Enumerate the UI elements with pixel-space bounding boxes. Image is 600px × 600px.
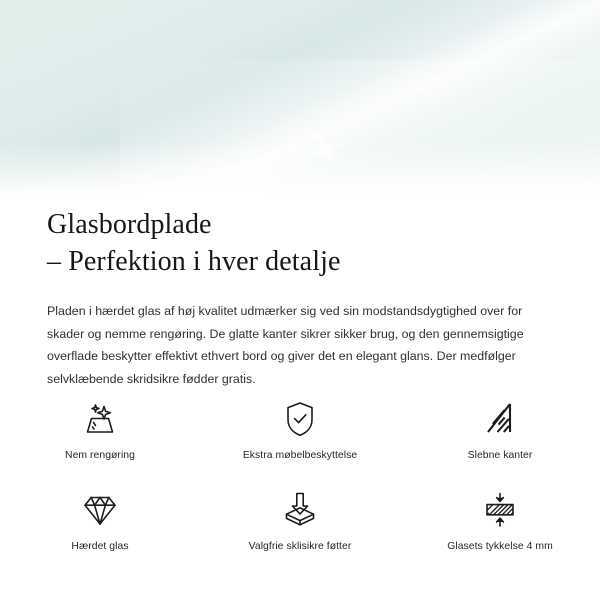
feature-label: Nem rengøring — [65, 449, 135, 462]
feature-item-glass-thickness: Glasets tykkelse 4 mm — [400, 489, 600, 553]
feature-grid: Nem rengøring Ekstra møbelbeskyttelse — [0, 398, 600, 553]
headline-line-2: – Perfektion i hver detalje — [47, 243, 553, 280]
shield-check-icon — [277, 398, 323, 440]
feature-label: Slebne kanter — [468, 449, 533, 462]
press-down-pad-icon — [277, 489, 323, 531]
feature-item-anti-slip-feet: Valgfrie sklisikre føtter — [200, 489, 400, 553]
product-detail-page: Glasbordplade – Perfektion i hver detalj… — [0, 0, 600, 600]
page-title: Glasbordplade – Perfektion i hver detalj… — [47, 206, 553, 280]
feature-item-easy-cleaning: Nem rengøring — [0, 398, 200, 462]
feature-label: Hærdet glas — [71, 540, 128, 553]
headline-line-1: Glasbordplade — [47, 209, 212, 240]
hero-image — [0, 0, 600, 200]
text-content: Glasbordplade – Perfektion i hver detalj… — [47, 206, 553, 390]
diagonal-hatch-icon — [477, 398, 523, 440]
glass-edge-highlight — [0, 0, 600, 200]
thickness-arrows-icon — [477, 489, 523, 531]
description-paragraph: Pladen i hærdet glas af høj kvalitet udm… — [47, 300, 547, 390]
feature-label: Glasets tykkelse 4 mm — [447, 540, 553, 553]
feature-label: Ekstra møbelbeskyttelse — [243, 449, 357, 462]
feature-label: Valgfrie sklisikre føtter — [249, 540, 352, 553]
diamond-icon — [77, 489, 123, 531]
feature-item-tempered-glass: Hærdet glas — [0, 489, 200, 553]
feature-item-polished-edges: Slebne kanter — [400, 398, 600, 462]
feature-item-furniture-protection: Ekstra møbelbeskyttelse — [200, 398, 400, 462]
sparkling-surface-icon — [77, 398, 123, 440]
